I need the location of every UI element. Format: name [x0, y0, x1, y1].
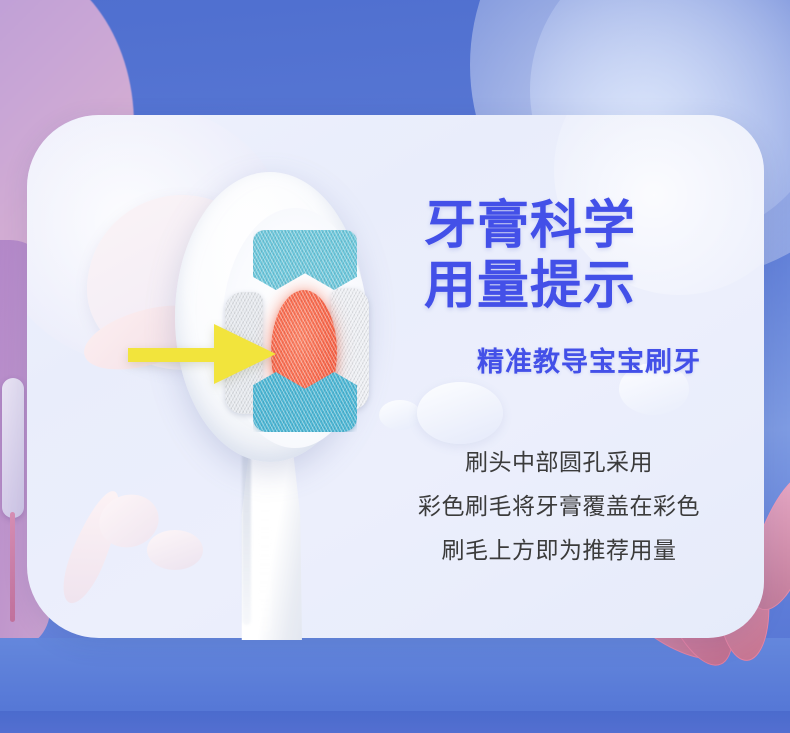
decorative-pill-left: [2, 378, 24, 518]
body-line-3: 刷毛上方即为推荐用量: [376, 528, 742, 572]
body-line-1: 刷头中部圆孔采用: [376, 440, 742, 484]
toothbrush-illustration: [150, 160, 390, 640]
decorative-stem-left: [10, 512, 15, 622]
decorative-dot-large: [417, 382, 503, 444]
background-band: [0, 638, 790, 713]
headline-line-1: 牙膏科学: [424, 196, 764, 256]
background-bottom-strip: [0, 711, 790, 733]
subtitle: 精准教导宝宝刷牙: [424, 340, 754, 379]
headline-line-2: 用量提示: [424, 256, 764, 316]
brush-head: [175, 172, 365, 462]
body-text: 刷头中部圆孔采用 彩色刷毛将牙膏覆盖在彩色 刷毛上方即为推荐用量: [376, 440, 742, 572]
arrow-icon: [128, 318, 278, 390]
body-line-2: 彩色刷毛将牙膏覆盖在彩色: [376, 484, 742, 528]
headline: 牙膏科学 用量提示: [424, 196, 764, 316]
promo-banner: 牙膏科学 用量提示 精准教导宝宝刷牙 刷头中部圆孔采用 彩色刷毛将牙膏覆盖在彩色…: [0, 0, 790, 733]
